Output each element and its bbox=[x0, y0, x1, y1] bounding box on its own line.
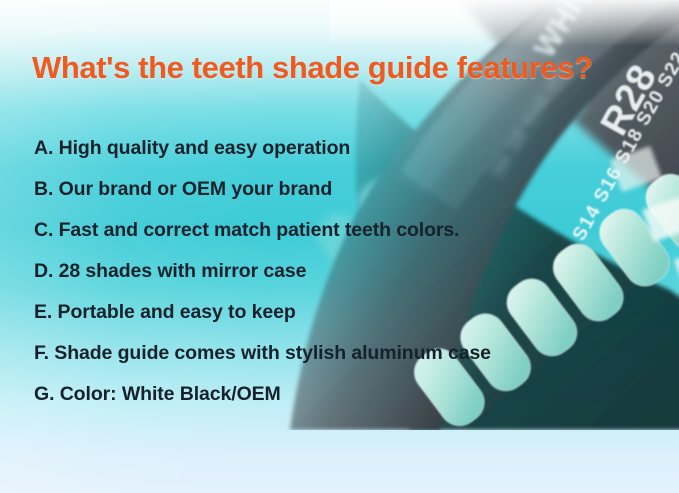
list-item: C. Fast and correct match patient teeth … bbox=[34, 210, 634, 251]
list-item: A. High quality and easy operation bbox=[34, 128, 634, 169]
list-item: D. 28 shades with mirror case bbox=[34, 251, 634, 292]
feature-list: A. High quality and easy operation B. Ou… bbox=[34, 128, 634, 415]
list-item: E. Portable and easy to keep bbox=[34, 292, 634, 333]
page-title: What's the teeth shade guide features? bbox=[32, 50, 593, 86]
list-item: B. Our brand or OEM your brand bbox=[34, 169, 634, 210]
promo-banner: R28 WHITENING S14 S16 S18 S20 S22 S4 S5 … bbox=[0, 0, 679, 493]
list-item: G. Color: White Black/OEM bbox=[34, 374, 634, 415]
list-item: F. Shade guide comes with stylish alumin… bbox=[34, 333, 634, 374]
